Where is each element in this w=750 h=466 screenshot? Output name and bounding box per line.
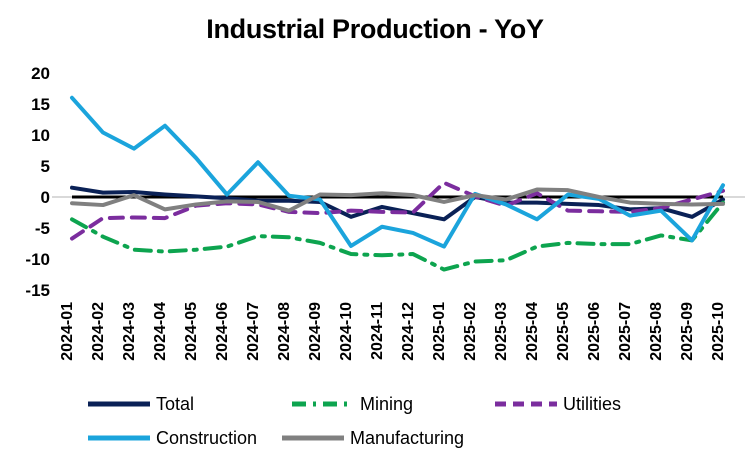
chart-container: Industrial Production - YoY 20151050-5-1… xyxy=(0,0,750,466)
x-tick-label: 2025-03 xyxy=(493,302,510,361)
x-tick-label: 2025-08 xyxy=(648,302,665,361)
x-tick-label: 2024-09 xyxy=(307,302,324,361)
x-tick-label: 2024-10 xyxy=(338,302,355,361)
x-tick-label: 2025-10 xyxy=(710,302,727,361)
legend-label-total[interactable]: Total xyxy=(156,394,194,414)
y-tick-label: 20 xyxy=(31,64,50,83)
y-tick-label: -15 xyxy=(25,281,50,300)
y-tick-label: 5 xyxy=(41,157,50,176)
legend-label-utilities[interactable]: Utilities xyxy=(563,394,621,414)
x-tick-label: 2025-07 xyxy=(617,302,634,361)
y-tick-label: 10 xyxy=(31,126,50,145)
series-lines xyxy=(72,98,723,270)
x-tick-label: 2024-11 xyxy=(369,302,386,360)
x-tick-label: 2025-06 xyxy=(586,302,603,361)
chart-svg: 20151050-5-10-15 2024-012024-022024-0320… xyxy=(0,0,750,466)
x-tick-label: 2024-12 xyxy=(400,302,417,361)
x-tick-label: 2024-05 xyxy=(183,302,200,361)
x-tick-label: 2024-01 xyxy=(59,302,76,361)
y-tick-label: 15 xyxy=(31,95,50,114)
y-tick-label: 0 xyxy=(41,188,50,207)
x-tick-label: 2024-08 xyxy=(276,302,293,361)
chart-legend: TotalMiningUtilitiesConstructionManufact… xyxy=(88,394,621,448)
x-tick-label: 2025-04 xyxy=(524,302,541,361)
x-tick-label: 2024-04 xyxy=(152,302,169,361)
legend-label-construction[interactable]: Construction xyxy=(156,428,257,448)
x-tick-label: 2024-03 xyxy=(121,302,138,361)
x-tick-label: 2025-05 xyxy=(555,302,572,361)
y-tick-label: -5 xyxy=(35,219,50,238)
x-tick-label: 2025-02 xyxy=(462,302,479,361)
y-tick-label: -10 xyxy=(25,250,50,269)
x-tick-label: 2025-09 xyxy=(679,302,696,361)
y-axis-ticks: 20151050-5-10-15 xyxy=(25,64,50,300)
legend-label-mining[interactable]: Mining xyxy=(360,394,413,414)
x-axis-ticks: 2024-012024-022024-032024-042024-052024-… xyxy=(59,302,727,361)
legend-label-manufacturing[interactable]: Manufacturing xyxy=(350,428,464,448)
x-tick-label: 2024-06 xyxy=(214,302,231,361)
x-tick-label: 2025-01 xyxy=(431,302,448,361)
x-tick-label: 2024-02 xyxy=(90,302,107,361)
series-line-construction xyxy=(72,98,723,247)
x-tick-label: 2024-07 xyxy=(245,302,262,361)
